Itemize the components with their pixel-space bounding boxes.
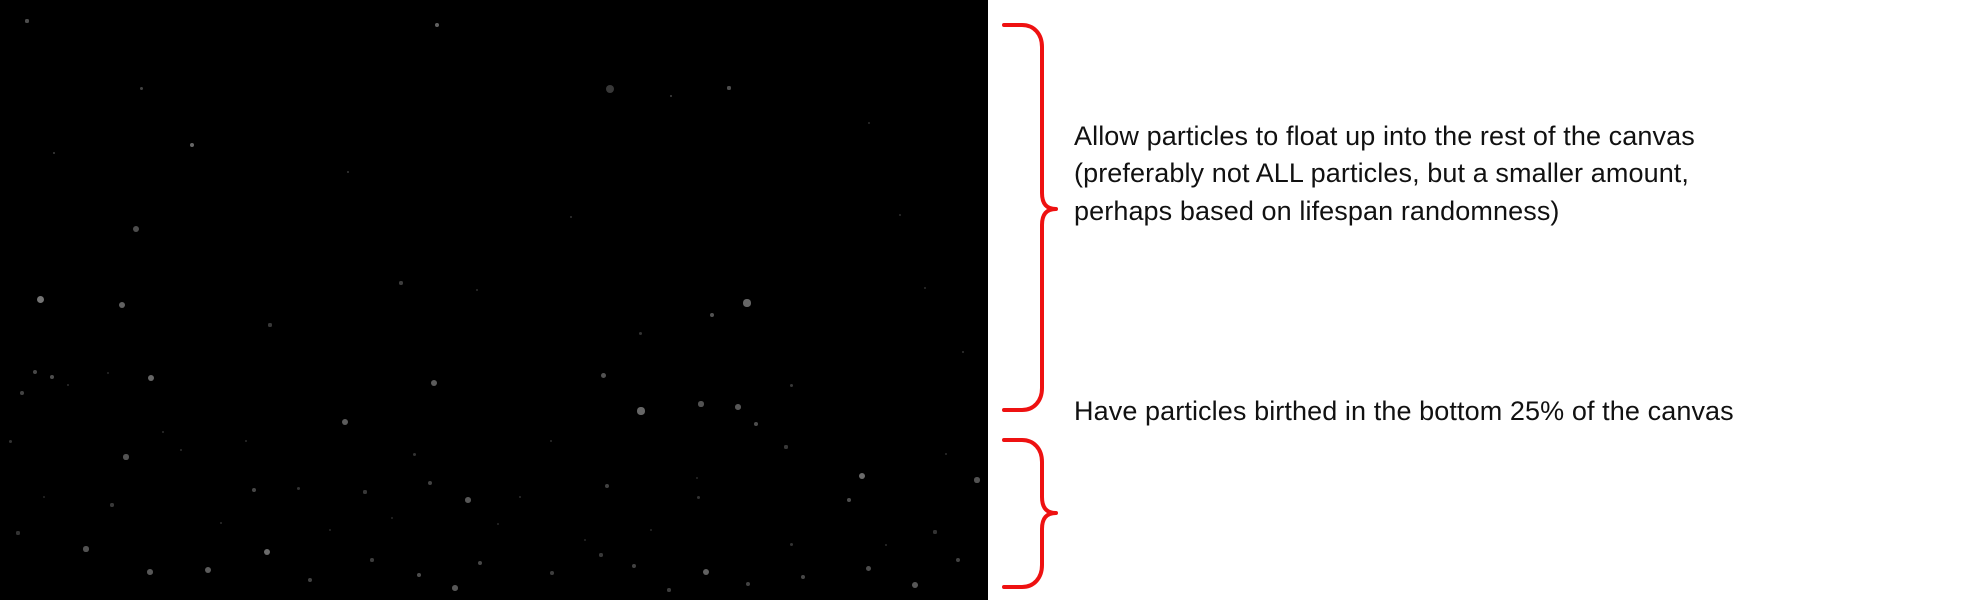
particle xyxy=(696,477,699,480)
annotation-1-label: Allow particles to float up into the res… xyxy=(1074,118,1794,230)
particle xyxy=(478,561,482,565)
particle xyxy=(710,313,715,318)
particle xyxy=(945,453,948,456)
particle xyxy=(743,299,750,306)
particle xyxy=(33,370,37,374)
particle xyxy=(962,351,965,354)
particle xyxy=(16,531,19,534)
particle xyxy=(866,566,871,571)
particle xyxy=(417,573,422,578)
curly-brace-1-icon xyxy=(1002,23,1064,412)
particle xyxy=(147,569,153,575)
particle xyxy=(956,558,960,562)
particle xyxy=(119,302,125,308)
particle xyxy=(606,85,614,93)
particle xyxy=(83,546,88,551)
particle xyxy=(180,449,183,452)
screenshot-root: Allow particles to float up into the res… xyxy=(0,0,1976,600)
particle xyxy=(37,296,44,303)
particle xyxy=(110,503,113,506)
particle xyxy=(140,87,143,90)
curly-brace-1 xyxy=(1002,23,1064,412)
particle xyxy=(53,152,56,155)
particle xyxy=(605,484,609,488)
particle xyxy=(25,19,28,22)
particle xyxy=(735,404,741,410)
particle xyxy=(667,588,671,592)
particle xyxy=(933,530,936,533)
particle xyxy=(698,401,703,406)
annotation-panel: Allow particles to float up into the res… xyxy=(988,0,1976,600)
particle xyxy=(264,549,271,556)
particle xyxy=(801,575,805,579)
particle xyxy=(107,372,109,374)
particle xyxy=(67,384,70,387)
particle xyxy=(550,571,554,575)
particle xyxy=(519,496,522,499)
particle xyxy=(570,216,573,219)
particle xyxy=(123,454,128,459)
particle xyxy=(497,523,500,526)
particle xyxy=(205,567,211,573)
particle xyxy=(727,86,730,89)
particle xyxy=(252,488,256,492)
particle xyxy=(399,281,402,284)
particle xyxy=(912,582,918,588)
particle xyxy=(476,289,478,291)
particle xyxy=(703,569,709,575)
particle xyxy=(20,391,24,395)
particle xyxy=(162,431,165,434)
particle xyxy=(601,373,606,378)
particle xyxy=(790,543,793,546)
particle-canvas[interactable] xyxy=(0,0,988,600)
curly-brace-2 xyxy=(1002,438,1064,589)
particle xyxy=(697,496,700,499)
particle xyxy=(245,440,248,443)
particle xyxy=(847,498,852,503)
particle xyxy=(924,287,926,289)
particle xyxy=(370,558,374,562)
particle xyxy=(885,544,888,547)
particle xyxy=(391,517,393,519)
particle xyxy=(435,23,439,27)
particle xyxy=(754,422,759,427)
particle xyxy=(342,419,348,425)
particle xyxy=(363,490,366,493)
particle xyxy=(9,440,12,443)
particle xyxy=(899,214,902,217)
particle xyxy=(428,481,432,485)
particle xyxy=(599,553,602,556)
particle xyxy=(790,384,793,387)
particle xyxy=(413,453,416,456)
particle xyxy=(670,95,673,98)
particle xyxy=(859,473,866,480)
particle xyxy=(148,375,154,381)
particle xyxy=(465,497,471,503)
particle xyxy=(550,440,553,443)
particle xyxy=(268,323,271,326)
particle xyxy=(133,226,139,232)
particle xyxy=(632,564,636,568)
particle xyxy=(297,487,300,490)
particle xyxy=(584,539,586,541)
particle xyxy=(637,407,644,414)
particle xyxy=(974,477,979,482)
particle xyxy=(308,578,312,582)
particle xyxy=(190,143,194,147)
curly-brace-2-icon xyxy=(1002,438,1064,589)
particle xyxy=(220,522,223,525)
particle xyxy=(43,496,45,498)
particle xyxy=(329,529,331,531)
particle xyxy=(868,122,870,124)
particle xyxy=(746,582,750,586)
particle xyxy=(50,375,55,380)
annotation-2-label: Have particles birthed in the bottom 25%… xyxy=(1074,393,1834,430)
particle xyxy=(452,585,458,591)
particle xyxy=(431,380,437,386)
particle xyxy=(650,529,653,532)
particle xyxy=(347,171,350,174)
particle xyxy=(784,445,787,448)
particle xyxy=(639,332,642,335)
